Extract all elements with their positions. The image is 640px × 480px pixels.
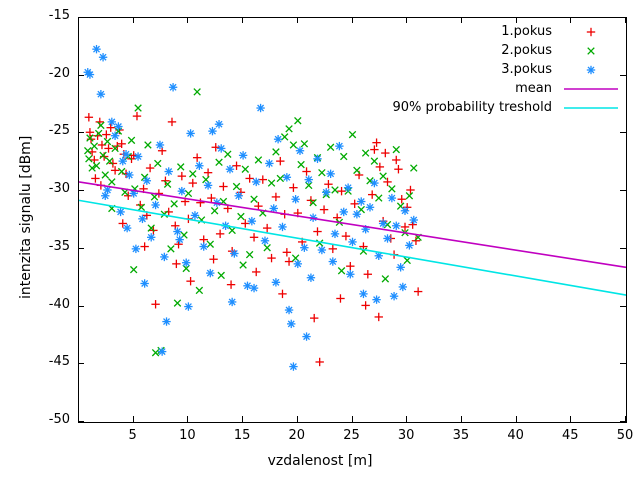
data-point [410,165,417,172]
legend-label: 2.pokus [501,43,562,58]
x-tick-label: 10 [162,428,212,443]
x-tick-mark [625,416,626,422]
data-point [204,168,212,176]
data-point [379,219,387,227]
data-point [357,197,365,205]
data-point [140,279,148,287]
data-point [276,157,284,165]
legend-label: 3.pokus [501,62,562,77]
data-point [123,224,131,232]
data-point [587,27,595,35]
data-point [588,47,595,54]
data-point [401,207,409,215]
data-point [114,122,122,130]
data-point [178,187,186,195]
y-tick-label: -50 [49,412,70,427]
data-point [84,147,91,154]
data-point [99,53,107,61]
data-point [111,166,119,174]
data-point [392,222,400,230]
data-point [384,221,391,228]
y-tick-mark [78,75,84,76]
data-point [173,227,181,235]
data-point [388,194,396,202]
x-tick-mark [352,416,353,422]
data-point [366,203,374,211]
data-point [273,149,280,156]
data-point [133,112,141,120]
data-point [370,179,378,187]
data-point [371,158,378,165]
data-point [145,142,152,149]
trend-line [79,200,626,295]
data-point [290,142,297,149]
data-point [206,269,214,277]
data-point [318,246,326,254]
legend-entry[interactable]: mean [300,79,620,98]
data-point [283,173,291,181]
data-point [85,113,93,121]
data-point [92,45,100,53]
data-point [174,300,181,307]
data-point [252,268,260,276]
data-point [399,283,407,291]
data-point [186,277,194,285]
y-tick-mark [620,363,626,364]
data-point [132,245,140,253]
data-point [125,171,133,179]
data-point [160,253,168,261]
y-tick-label: -45 [49,354,70,369]
data-point [172,260,180,268]
data-point [226,165,234,173]
legend-label: 1.pokus [501,24,562,39]
data-point [383,234,391,242]
data-point [370,145,378,153]
x-tick-label: 30 [381,428,431,443]
data-point [156,141,164,149]
data-point [165,167,173,175]
data-point [320,205,328,213]
y-axis-label: intenzita signalu [dBm] [18,136,34,299]
data-point [319,169,326,176]
data-point [302,332,310,340]
data-point [302,167,310,175]
data-point [104,138,111,145]
legend-line-swatch [562,101,620,115]
data-point [368,190,376,198]
data-point [98,122,105,129]
x-tick-mark [242,416,243,422]
data-point [267,254,275,262]
y-tick-label: -35 [49,239,70,254]
data-point [151,300,159,308]
data-point [315,358,323,366]
data-point [143,177,151,185]
data-point [177,164,184,171]
legend-plus-marker [562,25,620,39]
x-tick-label: 5 [108,428,158,443]
data-point [329,245,337,253]
data-point [278,223,286,231]
data-point [122,150,130,158]
x-tick-mark [297,17,298,23]
y-tick-mark [620,306,626,307]
y-tick-mark [78,363,84,364]
data-point [186,129,194,137]
data-point [216,159,223,166]
data-point [169,83,177,91]
data-point [100,152,107,159]
data-point [264,244,271,251]
x-tick-label: 20 [272,428,322,443]
data-point [248,217,256,225]
data-point [346,270,354,278]
data-point [134,152,142,160]
data-point [251,196,258,203]
data-point [171,201,178,208]
data-point [278,290,286,298]
x-tick-mark [625,17,626,23]
data-point [239,151,247,159]
data-point [138,215,146,223]
data-point [108,118,116,126]
x-tick-mark [297,416,298,422]
x-tick-label: 45 [545,428,595,443]
data-point [219,182,227,190]
data-point [182,259,190,267]
data-point [372,138,380,146]
data-point [147,233,155,241]
data-point [215,120,223,128]
x-tick-mark [406,416,407,422]
y-tick-label: -40 [49,297,70,312]
y-tick-mark [620,132,626,133]
data-point [196,287,203,294]
data-point [364,270,372,278]
data-point [289,362,297,370]
data-point [135,105,142,112]
y-tick-mark [78,190,84,191]
data-point [414,287,422,295]
data-point [331,230,339,238]
data-point [389,186,396,193]
data-point [289,183,297,191]
data-point [97,90,105,98]
x-tick-mark [187,416,188,422]
data-point [162,317,170,325]
data-point [265,159,273,167]
data-point [346,262,354,270]
data-point [281,134,288,141]
data-point [194,89,201,96]
data-point [340,208,348,216]
data-point [354,167,361,174]
data-point [116,208,124,216]
data-point [405,241,413,249]
legend-entry[interactable]: 90% probability treshold [300,98,620,117]
data-point [154,160,161,167]
data-point [406,192,413,199]
data-point [204,181,212,189]
data-point [295,117,302,124]
data-point [398,195,406,203]
x-tick-mark [133,416,134,422]
data-point [211,207,218,214]
legend: 1.pokus2.pokus3.pokusmean90% probability… [300,22,620,117]
data-point [151,201,159,209]
data-point [410,216,418,224]
data-point [382,276,389,283]
data-point [118,168,125,175]
data-point [300,244,308,252]
data-point [283,248,291,256]
data-point [287,320,295,328]
data-point [268,180,275,187]
data-point [383,178,391,186]
data-point [238,213,245,220]
series-plus [85,112,423,366]
y-tick-mark [78,132,84,133]
data-point [359,290,367,298]
data-point [107,123,115,131]
data-point [189,179,197,187]
data-point [250,284,258,292]
data-point [225,151,232,158]
y-tick-mark [78,306,84,307]
data-point [372,295,380,303]
legend-label: 90% probability treshold [392,100,562,115]
data-point [381,149,389,157]
y-tick-label: -20 [49,66,70,81]
data-point [101,192,109,200]
data-point [228,298,236,306]
data-point [102,130,110,138]
data-point [200,242,208,250]
data-point [272,278,280,286]
data-point [305,175,313,183]
data-point [277,175,284,182]
x-tick-label: 15 [217,428,267,443]
data-point [390,292,398,300]
data-point [406,186,414,194]
y-tick-mark [620,75,626,76]
data-point [252,178,260,186]
x-tick-label: 40 [491,428,541,443]
data-point [207,241,214,248]
data-point [348,238,356,246]
data-point [349,131,356,138]
data-point [235,192,243,200]
data-point [272,193,280,201]
data-point [184,302,192,310]
data-point [229,227,236,234]
data-point [190,171,197,178]
x-tick-label: 50 [600,428,640,443]
data-point [191,211,199,219]
data-point [340,153,347,160]
y-tick-mark [78,421,84,422]
y-tick-label: -25 [49,123,70,138]
legend-label: mean [515,81,562,96]
x-tick-mark [570,416,571,422]
data-point [209,255,217,263]
legend-entry[interactable]: 2.pokus [300,41,620,60]
data-point [380,173,387,180]
data-point [392,156,400,164]
data-point [230,249,238,257]
data-point [296,147,304,155]
x-tick-mark [133,17,134,23]
data-point [86,156,93,163]
x-tick-label: 35 [436,428,486,443]
data-point [217,144,225,152]
chart-canvas: intenzita signalu [dBm] vzdalenost [m] -… [0,0,640,480]
data-point [168,246,175,253]
data-point [394,165,402,173]
data-point [327,144,334,151]
data-point [298,161,305,168]
legend-entry[interactable]: 3.pokus [300,60,620,79]
data-point [313,227,321,235]
data-point [91,174,99,182]
data-point [294,260,302,268]
data-point [246,251,253,258]
data-point [240,262,247,269]
data-point [338,268,345,275]
data-point [109,179,116,186]
data-point [361,301,369,309]
data-point [342,232,350,240]
x-tick-mark [516,416,517,422]
data-point [375,313,383,321]
y-tick-mark [78,17,84,18]
legend-line-swatch [562,82,620,96]
data-point [285,257,293,265]
data-point [91,143,98,150]
y-tick-mark [620,248,626,249]
y-tick-label: -15 [49,8,70,23]
data-point [195,162,203,170]
data-point [111,132,119,140]
data-point [130,266,137,273]
data-point [250,233,258,241]
data-point [310,314,318,322]
data-point [216,230,224,238]
x-axis-label: vzdalenost [m] [0,453,640,469]
data-point [332,187,339,194]
data-point [301,141,308,148]
y-tick-mark [620,190,626,191]
data-point [168,118,176,126]
data-point [102,172,109,179]
data-point [185,190,192,197]
data-point [233,183,240,190]
data-point [208,127,216,135]
data-point [263,224,271,232]
x-tick-mark [242,17,243,23]
data-point [227,280,235,288]
data-point [274,135,282,143]
data-point [175,235,183,243]
data-point [336,294,344,302]
data-point [140,242,148,250]
legend-entry[interactable]: 1.pokus [300,22,620,41]
data-point [178,172,186,180]
y-tick-mark [78,248,84,249]
data-point [335,142,343,150]
data-point [128,137,135,144]
data-point [362,150,369,157]
x-tick-label: 25 [327,428,377,443]
data-point [587,65,595,73]
x-tick-mark [187,17,188,23]
data-point [218,272,225,279]
data-point [146,164,154,172]
data-point [329,257,337,265]
data-point [396,263,404,271]
data-point [285,306,293,314]
data-point [255,157,262,164]
data-point [256,104,264,112]
data-point [353,210,361,218]
data-point [291,195,299,203]
legend-cross-marker [562,44,620,58]
data-point [344,183,352,191]
x-tick-mark [461,416,462,422]
legend-star-marker [562,63,620,77]
data-point [193,153,201,161]
data-point [242,166,249,173]
data-point [326,170,334,178]
data-point [261,237,269,245]
data-point [375,195,382,202]
data-point [313,155,321,163]
y-tick-label: -30 [49,181,70,196]
data-point [86,70,94,78]
data-point [158,347,166,355]
data-point [286,126,293,133]
data-point [307,274,315,282]
data-point [322,188,330,196]
data-point [393,146,400,153]
